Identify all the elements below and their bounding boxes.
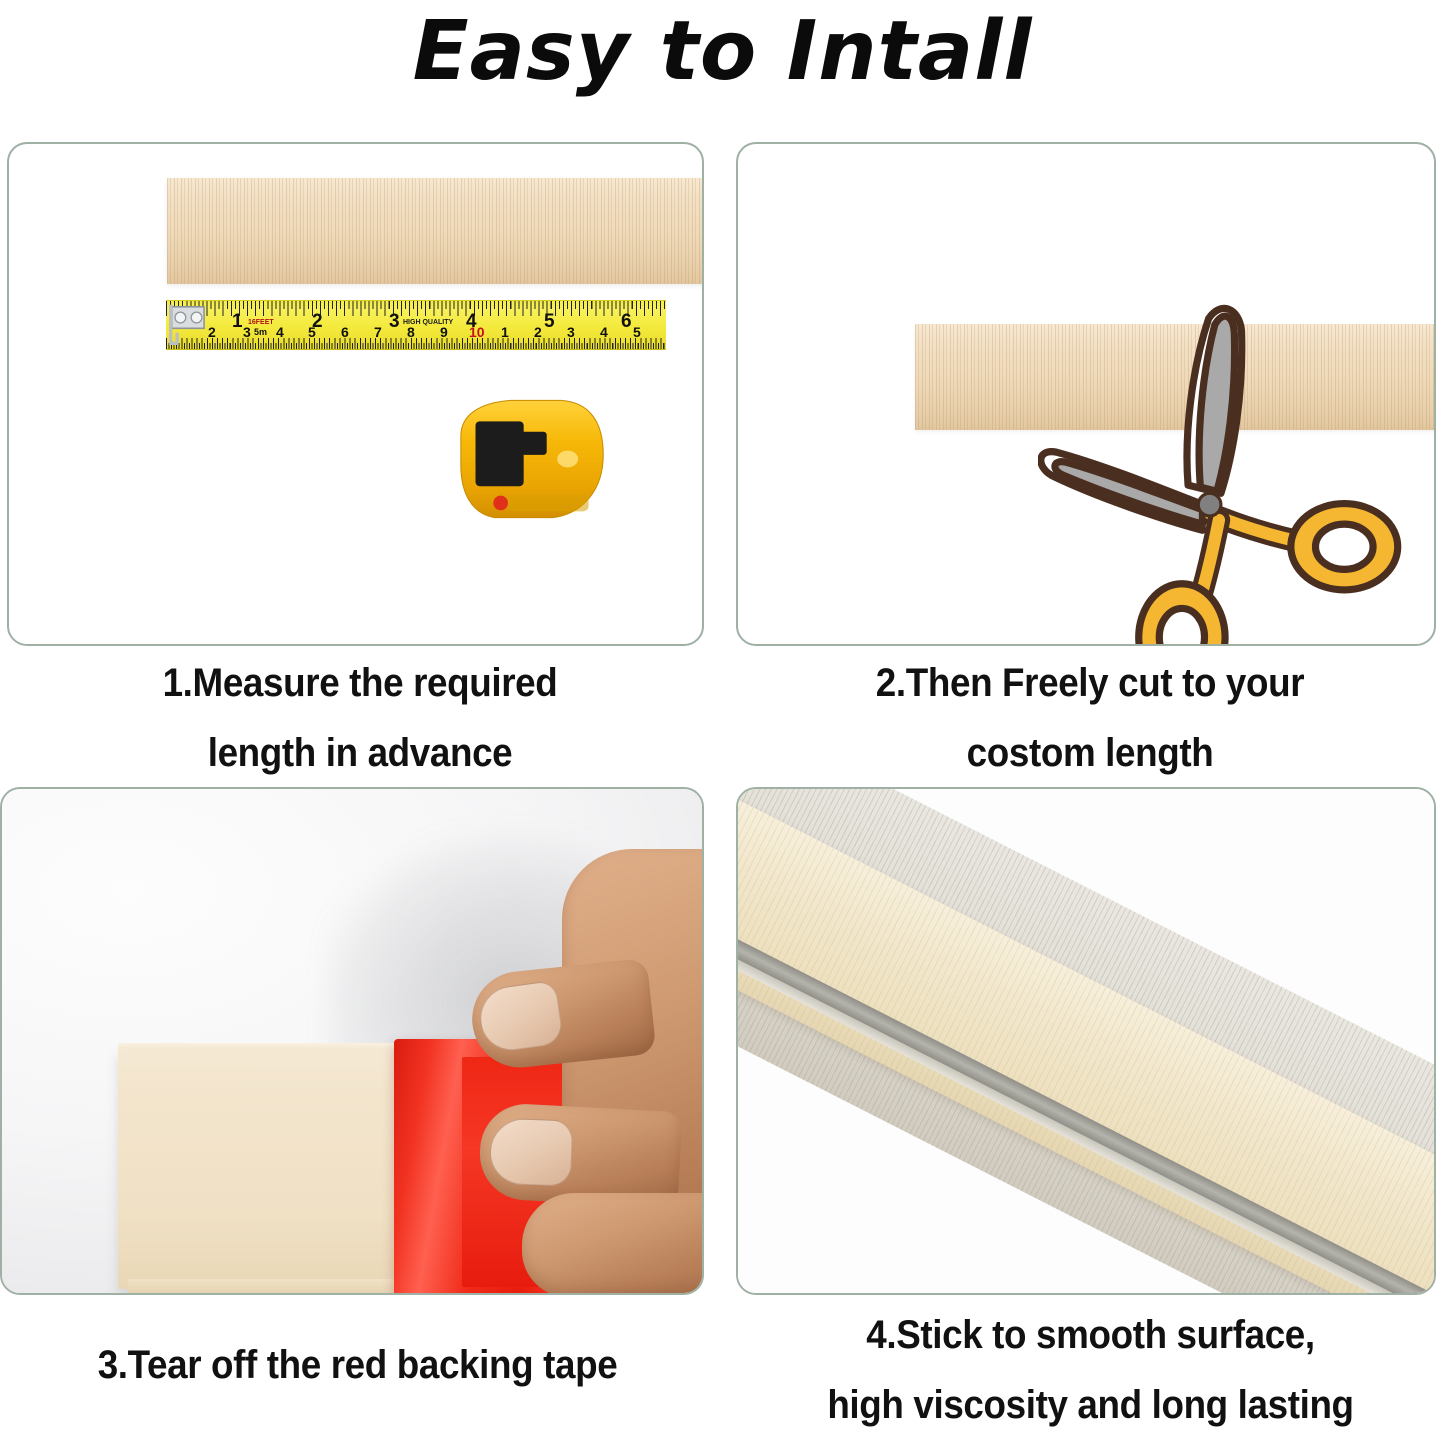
tape-cm-9: 9 (440, 325, 448, 339)
tape-cm-4: 4 (276, 325, 284, 339)
tape-cm-7: 7 (374, 325, 382, 339)
tape-cm-5: 5 (308, 325, 316, 339)
tape-cm-3: 3 (243, 325, 251, 339)
step-3-caption: 3.Tear off the red backing tape (29, 1330, 687, 1400)
tape-metric-marker: 5m (254, 328, 267, 337)
step-2-caption: 2.Then Freely cut to your costom length (777, 648, 1403, 788)
tape-cm-10: 10 (469, 325, 485, 339)
tape-inch-3: 3 (389, 312, 400, 331)
step-3-image-panel (0, 787, 704, 1295)
tape-major-ticks-bottom (166, 338, 666, 349)
trim-strip (118, 1049, 404, 1289)
tape-cm-11: 1 (501, 325, 509, 339)
tape-cm-8: 8 (407, 325, 415, 339)
lower-fingers (522, 1193, 704, 1295)
tape-end-hook-icon (167, 296, 211, 352)
thumbnail (489, 1118, 573, 1187)
step-1-image-panel: 1 2 3 4 5 6 16FEET HIGH QUALITY 2 3 5m 4… (7, 142, 704, 646)
trim-strip-bottom-edge (128, 1279, 438, 1295)
wood-trim-strip (167, 178, 704, 284)
step-2-caption-line-2: costom length (777, 718, 1403, 788)
step-4-image-panel (736, 787, 1436, 1295)
tape-inch-5: 5 (544, 312, 555, 331)
step-3-caption-line-1: 3.Tear off the red backing tape (29, 1330, 687, 1400)
tape-brand-text: 16FEET (248, 319, 274, 326)
tape-measure-case (451, 392, 611, 526)
step-4-caption-line-2: high viscosity and long lasting (764, 1370, 1416, 1440)
tape-cm-15: 5 (633, 325, 641, 339)
page-title: Easy to Intall (0, 4, 1445, 104)
step-2-image-panel (736, 142, 1436, 646)
tape-inch-6: 6 (621, 312, 632, 331)
tape-cm-6: 6 (341, 325, 349, 339)
scissors-icon (1038, 302, 1408, 646)
tape-cm-13: 3 (567, 325, 575, 339)
step-4-caption: 4.Stick to smooth surface, high viscosit… (764, 1300, 1416, 1440)
step-1-caption: 1.Measure the required length in advance (47, 648, 673, 788)
tape-inch-1: 1 (232, 312, 243, 331)
tape-cm-14: 4 (600, 325, 608, 339)
tape-measure-blade: 1 2 3 4 5 6 16FEET HIGH QUALITY 2 3 5m 4… (166, 300, 666, 350)
step-4-caption-line-1: 4.Stick to smooth surface, (764, 1300, 1416, 1370)
tape-cm-12: 2 (534, 325, 542, 339)
step-1-caption-line-2: length in advance (47, 718, 673, 788)
step-2-caption-line-1: 2.Then Freely cut to your (777, 648, 1403, 718)
install-photo (738, 789, 1434, 1293)
step-1-caption-line-1: 1.Measure the required (47, 648, 673, 718)
